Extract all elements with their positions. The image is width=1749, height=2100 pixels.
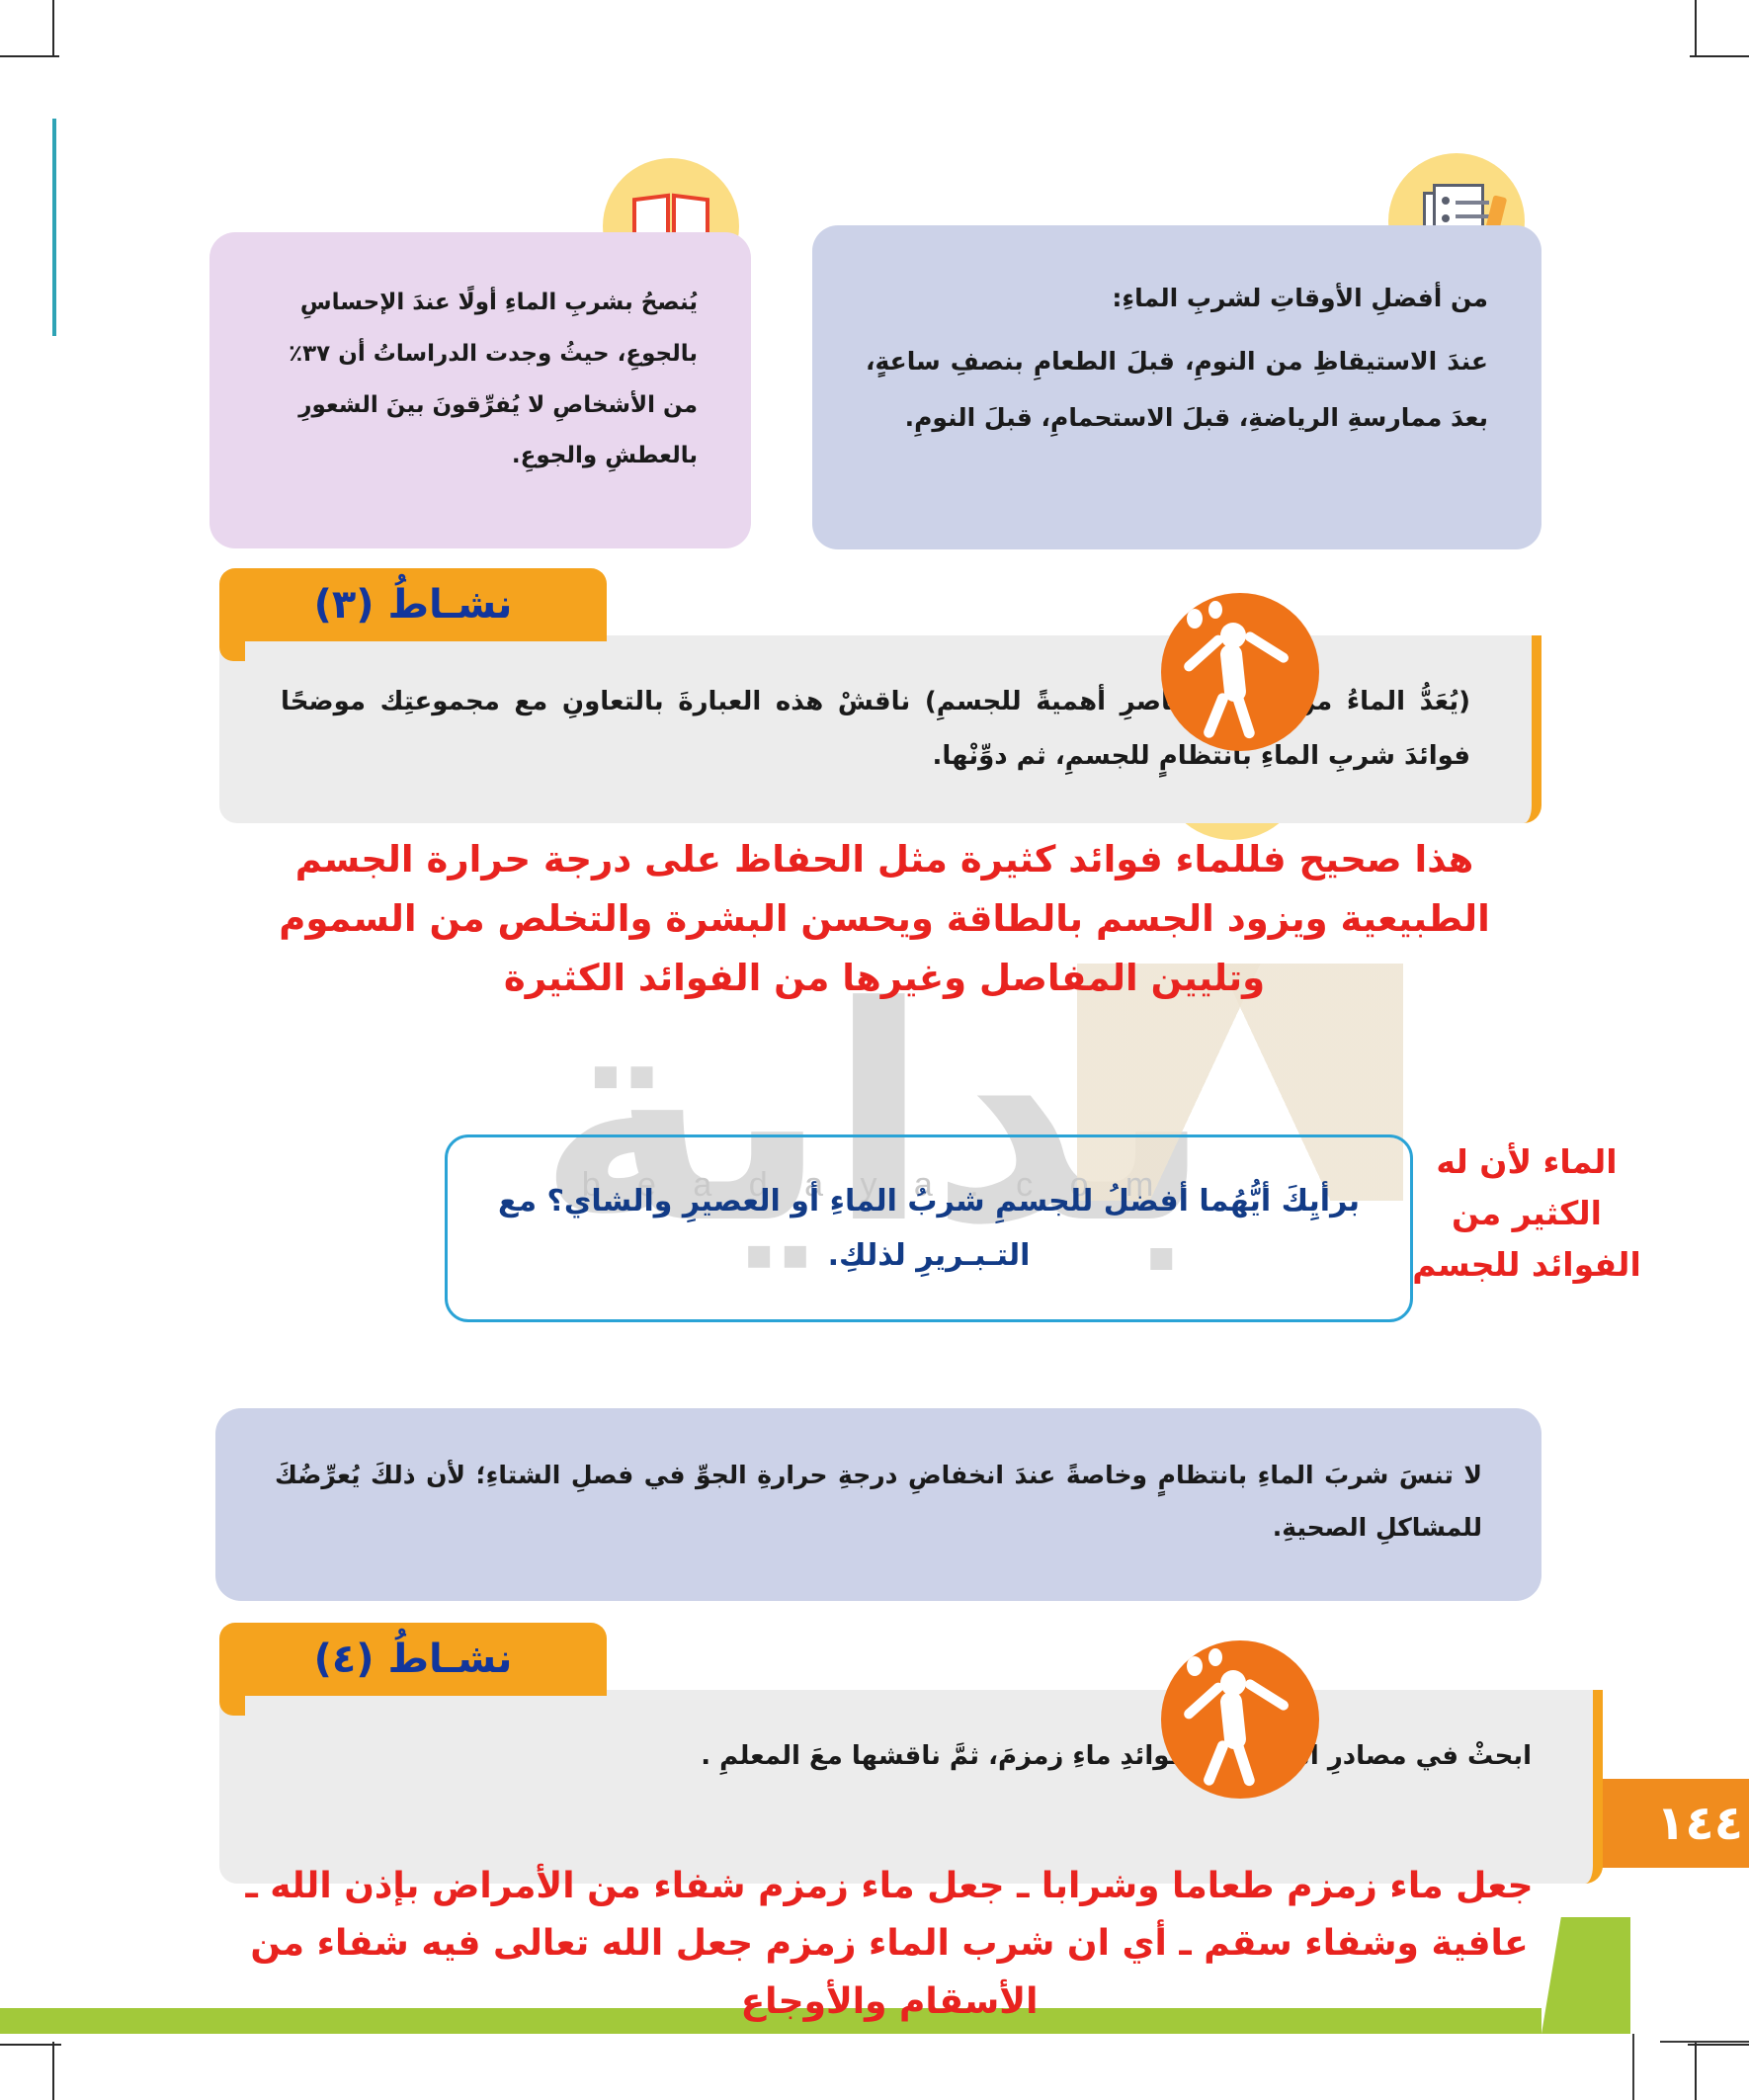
handwritten-answer-question: الماء لأن له الكثير من الفوائد للجسم <box>1403 1136 1650 1291</box>
blue-info-card-body: عندَ الاستيقاظِ من النومِ، قبلَ الطعامِ … <box>866 347 1488 431</box>
child-leg-left <box>1202 692 1229 740</box>
activity-3-tab-label: نشـاطُ (٣) <box>314 582 513 628</box>
purple-info-card: يُنصحُ بشربِ الماءِ أولًا عندَ الإحساسِ … <box>209 232 751 548</box>
crop-mark-bottom-left <box>52 2042 54 2100</box>
crop-mark-top-right <box>1695 0 1697 57</box>
page-number-tab: ١٤٤ <box>1581 1779 1749 1868</box>
notepad-spiral <box>1442 214 1450 222</box>
child-playing-icon <box>1161 1640 1319 1799</box>
footer-rule-horizontal <box>1660 2041 1749 2043</box>
child-arm-left <box>1182 633 1225 674</box>
activity-4-tab[interactable]: نشـاطُ (٤) <box>219 1623 607 1696</box>
balloon-icon <box>1208 1648 1222 1666</box>
footer-rule-vertical <box>1632 2034 1634 2100</box>
child-leg-right <box>1231 691 1256 739</box>
activity-3-box: (يُعَدُّ الماءُ من أكثرِ العناصرِ أهميةً… <box>219 635 1541 823</box>
activity-3-tab[interactable]: نشـاطُ (٣) <box>219 568 607 641</box>
child-playing-icon <box>1161 593 1319 751</box>
crop-mark-bottom-right <box>1695 2042 1697 2100</box>
activity-4-box: ابحثْ في مصادرِ التعلمِ عن فوائدِ ماءِ ز… <box>219 1690 1603 1884</box>
page-edge-marker <box>52 119 56 336</box>
notepad-line <box>1456 214 1489 218</box>
balloon-icon <box>1208 601 1222 619</box>
handwritten-answer-activity3: هذا صحيح فللماء فوائد كثيرة مثل الحفاظ ع… <box>237 830 1532 1008</box>
crop-mark-top-left <box>52 0 54 57</box>
handwritten-answer-activity4: جعل ماء زمزم طعاما وشرابا ـ جعل ماء زمزم… <box>198 1858 1581 2031</box>
balloon-icon <box>1187 1656 1203 1676</box>
child-leg-right <box>1231 1738 1256 1787</box>
question-box: برأيِكَ أيُّهُما أفضلُ للجسمِ شربُ الماء… <box>445 1134 1413 1322</box>
activity-4-body: ابحثْ في مصادرِ التعلمِ عن فوائدِ ماءِ ز… <box>701 1741 1532 1771</box>
blue-info-card-title: من أفضلِ الأوقاتِ لشربِ الماءِ: <box>866 271 1488 326</box>
crop-mark-top-h-right <box>1690 55 1749 57</box>
notepad-line <box>1456 201 1489 205</box>
page-number: ١٤٤ <box>1656 1796 1743 1851</box>
child-arm-right <box>1243 630 1291 665</box>
activity-4-tab-label: نشـاطُ (٤) <box>314 1637 513 1682</box>
child-leg-left <box>1202 1739 1229 1788</box>
blue-info-card-bottom-body: لا تنسَ شربَ الماءِ بانتظامٍ وخاصةً عندَ… <box>275 1461 1482 1542</box>
child-arm-right <box>1243 1678 1291 1713</box>
blue-info-card-top: من أفضلِ الأوقاتِ لشربِ الماءِ: عندَ الا… <box>812 225 1541 549</box>
purple-info-card-body: يُنصحُ بشربِ الماءِ أولًا عندَ الإحساسِ … <box>289 290 698 468</box>
notepad-spiral <box>1442 197 1450 205</box>
crop-mark-bottom-h-right <box>1688 2044 1749 2046</box>
child-arm-left <box>1182 1681 1225 1722</box>
crop-mark-top-h-left <box>0 55 59 57</box>
blue-info-card-bottom: لا تنسَ شربَ الماءِ بانتظامٍ وخاصةً عندَ… <box>215 1408 1541 1601</box>
balloon-icon <box>1187 609 1203 629</box>
question-box-text: برأيِكَ أيُّهُما أفضلُ للجسمِ شربُ الماء… <box>493 1174 1365 1284</box>
